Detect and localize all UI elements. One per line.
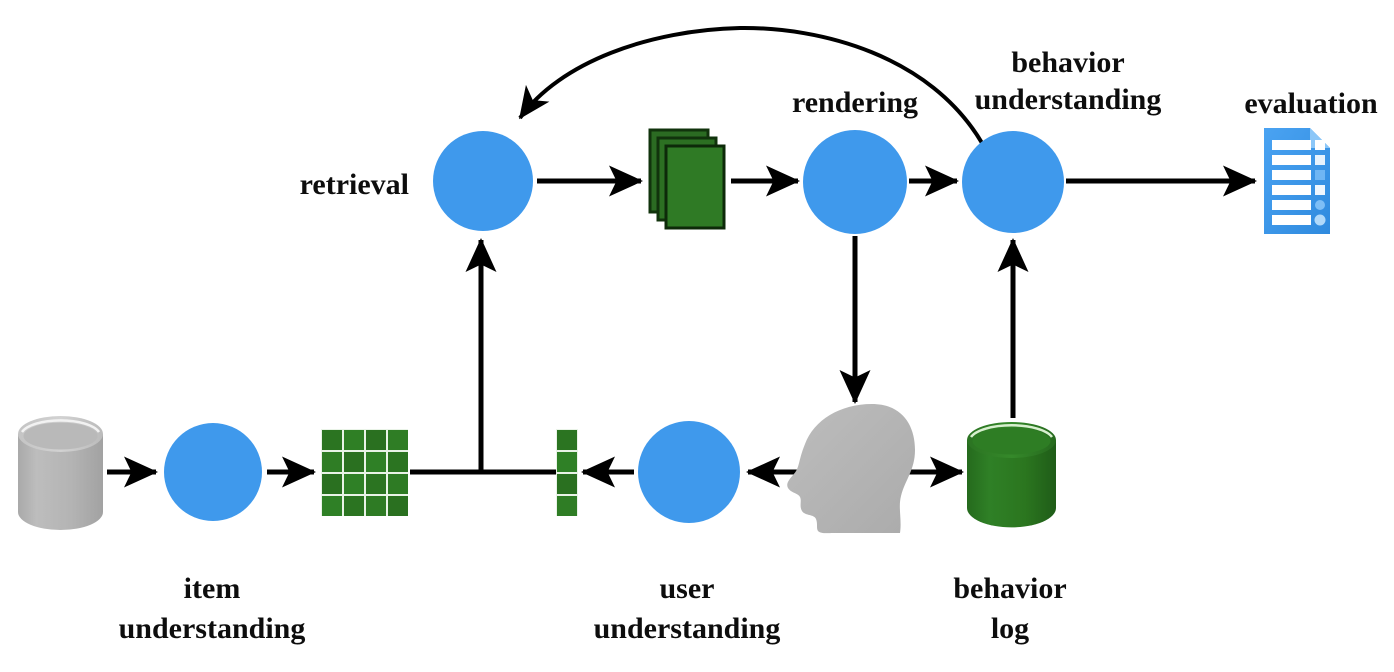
user-vector[interactable] (556, 429, 578, 516)
label-behavior-understanding-line1: behavior (1011, 46, 1124, 79)
label-item-understanding-line1: item (184, 572, 241, 605)
label-retrieval: retrieval (300, 168, 409, 201)
label-user-understanding-line1: user (660, 572, 715, 605)
retrieval-node[interactable] (433, 131, 533, 231)
rendering-node[interactable] (803, 130, 907, 234)
label-behavior-log-line2: log (991, 612, 1029, 645)
label-behavior-log-line1: behavior (953, 572, 1066, 605)
label-item-understanding-line2: understanding (119, 612, 306, 645)
item-embedding-matrix[interactable] (321, 429, 408, 516)
label-layer: retrieval rendering behavior understandi… (119, 46, 1378, 645)
pipeline-diagram: retrieval rendering behavior understandi… (0, 0, 1394, 672)
behavior-understanding-node[interactable] (962, 131, 1064, 233)
candidate-cards-stack[interactable] (650, 130, 724, 228)
user-understanding-node[interactable] (638, 421, 740, 523)
diagram-canvas: retrieval rendering behavior understandi… (0, 0, 1394, 672)
label-user-understanding-line2: understanding (594, 612, 781, 645)
evaluation-document[interactable] (1264, 128, 1330, 234)
behavior-log-cylinder[interactable] (967, 422, 1056, 527)
label-rendering: rendering (792, 86, 918, 119)
item-understanding-node[interactable] (164, 423, 262, 521)
user-head-silhouette[interactable] (787, 404, 915, 533)
label-evaluation: evaluation (1244, 87, 1378, 120)
item-corpus-cylinder[interactable] (18, 416, 103, 530)
label-behavior-understanding-line2: understanding (975, 83, 1162, 116)
edge-matrix-to-retrieval (410, 240, 481, 472)
